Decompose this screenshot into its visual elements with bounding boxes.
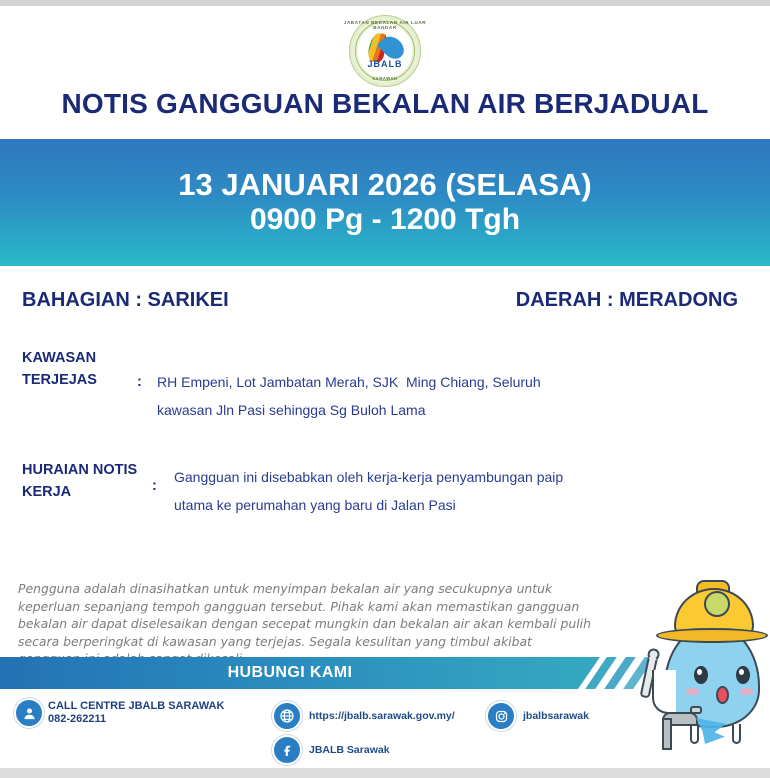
affected-area-field: KAWASAN TERJEJAS : RH Empeni, Lot Jambat… — [22, 348, 622, 424]
mascot-arm — [652, 670, 676, 714]
contact-website-text: https://jbalb.sarawak.gov.my/ — [309, 710, 455, 723]
jbalb-logo: JABATAN BEKALAN AIR LUAR BANDAR JBALB SA… — [343, 13, 427, 89]
contact-website[interactable]: https://jbalb.sarawak.gov.my/ — [272, 701, 455, 731]
work-description-colon: : — [152, 478, 174, 494]
notice-date: 13 JANUARI 2026 (SELASA) — [178, 167, 591, 203]
contact-list: CALL CENTRE JBALB SARAWAK 082-262211 htt… — [0, 695, 660, 773]
page-bottom-edge — [0, 768, 770, 778]
contact-call-centre[interactable]: CALL CENTRE JBALB SARAWAK 082-262211 — [14, 698, 224, 728]
contact-call-centre-text: CALL CENTRE JBALB SARAWAK 082-262211 — [48, 700, 224, 727]
water-droplet-mascot — [628, 566, 770, 766]
mascot-leg-left — [690, 724, 699, 744]
work-description-label: HURAIAN NOTIS KERJA — [22, 460, 152, 504]
mascot-leg-right — [732, 724, 741, 744]
faucet-handle — [690, 706, 702, 714]
page-title: NOTIS GANGGUAN BEKALAN AIR BERJADUAL — [0, 88, 770, 120]
date-time-banner: 13 JANUARI 2026 (SELASA) 0900 Pg - 1200 … — [0, 139, 770, 266]
person-icon — [14, 698, 44, 728]
affected-area-label: KAWASAN TERJEJAS — [22, 348, 137, 392]
mascot-bottom-mask — [628, 752, 770, 766]
affected-area-value: RH Empeni, Lot Jambatan Merah, SJK Ming … — [157, 368, 541, 424]
page-top-edge — [0, 0, 770, 7]
hardhat-badge — [704, 591, 730, 617]
work-description-value-line-1: Gangguan ini disebabkan oleh kerja-kerja… — [174, 463, 563, 491]
contact-instagram[interactable]: jbalbsarawak — [486, 701, 589, 731]
notice-page: JABATAN BEKALAN AIR LUAR BANDAR JBALB SA… — [0, 0, 770, 778]
contact-bar-title: HUBUNGI KAMI — [0, 657, 580, 689]
advisory-paragraph: Pengguna adalah dinasihatkan untuk menyi… — [18, 580, 598, 668]
division-label: BAHAGIAN : SARIKEI — [22, 289, 229, 312]
mascot-mouth — [716, 686, 729, 704]
logo-ring-text-bottom: SARAWAK — [343, 76, 427, 81]
location-row: BAHAGIAN : SARIKEI DAERAH : MERADONG — [0, 289, 770, 317]
contact-facebook[interactable]: JBALB Sarawak — [272, 735, 390, 765]
hardhat-brim — [656, 628, 768, 643]
work-description-value: Gangguan ini disebabkan oleh kerja-kerja… — [174, 463, 563, 519]
instagram-icon — [486, 701, 516, 731]
facebook-icon — [272, 735, 302, 765]
mascot-eye-right — [736, 666, 750, 684]
logo-wordmark: JBALB — [343, 59, 427, 69]
contact-facebook-text: JBALB Sarawak — [309, 744, 390, 757]
globe-icon — [272, 701, 302, 731]
mascot-eye-left — [694, 666, 708, 684]
district-label: DAERAH : MERADONG — [516, 289, 738, 312]
mascot-cheek-left — [686, 688, 699, 695]
logo-ring-text-top: JABATAN BEKALAN AIR LUAR BANDAR — [343, 20, 427, 30]
contact-bar-wrapper: HUBUNGI KAMI — [0, 657, 660, 689]
work-description-field: HURAIAN NOTIS KERJA : Gangguan ini diseb… — [22, 460, 622, 519]
contact-instagram-text: jbalbsarawak — [523, 710, 589, 723]
affected-area-value-line-1: RH Empeni, Lot Jambatan Merah, SJK Ming … — [157, 368, 541, 396]
work-description-value-line-2: utama ke perumahan yang baru di Jalan Pa… — [174, 491, 563, 519]
affected-area-colon: : — [137, 374, 157, 390]
mascot-cheek-right — [740, 688, 753, 695]
faucet-pipe — [662, 718, 672, 750]
affected-area-value-line-2: kawasan Jln Pasi sehingga Sg Buloh Lama — [157, 396, 541, 424]
notice-time: 0900 Pg - 1200 Tgh — [250, 202, 520, 238]
